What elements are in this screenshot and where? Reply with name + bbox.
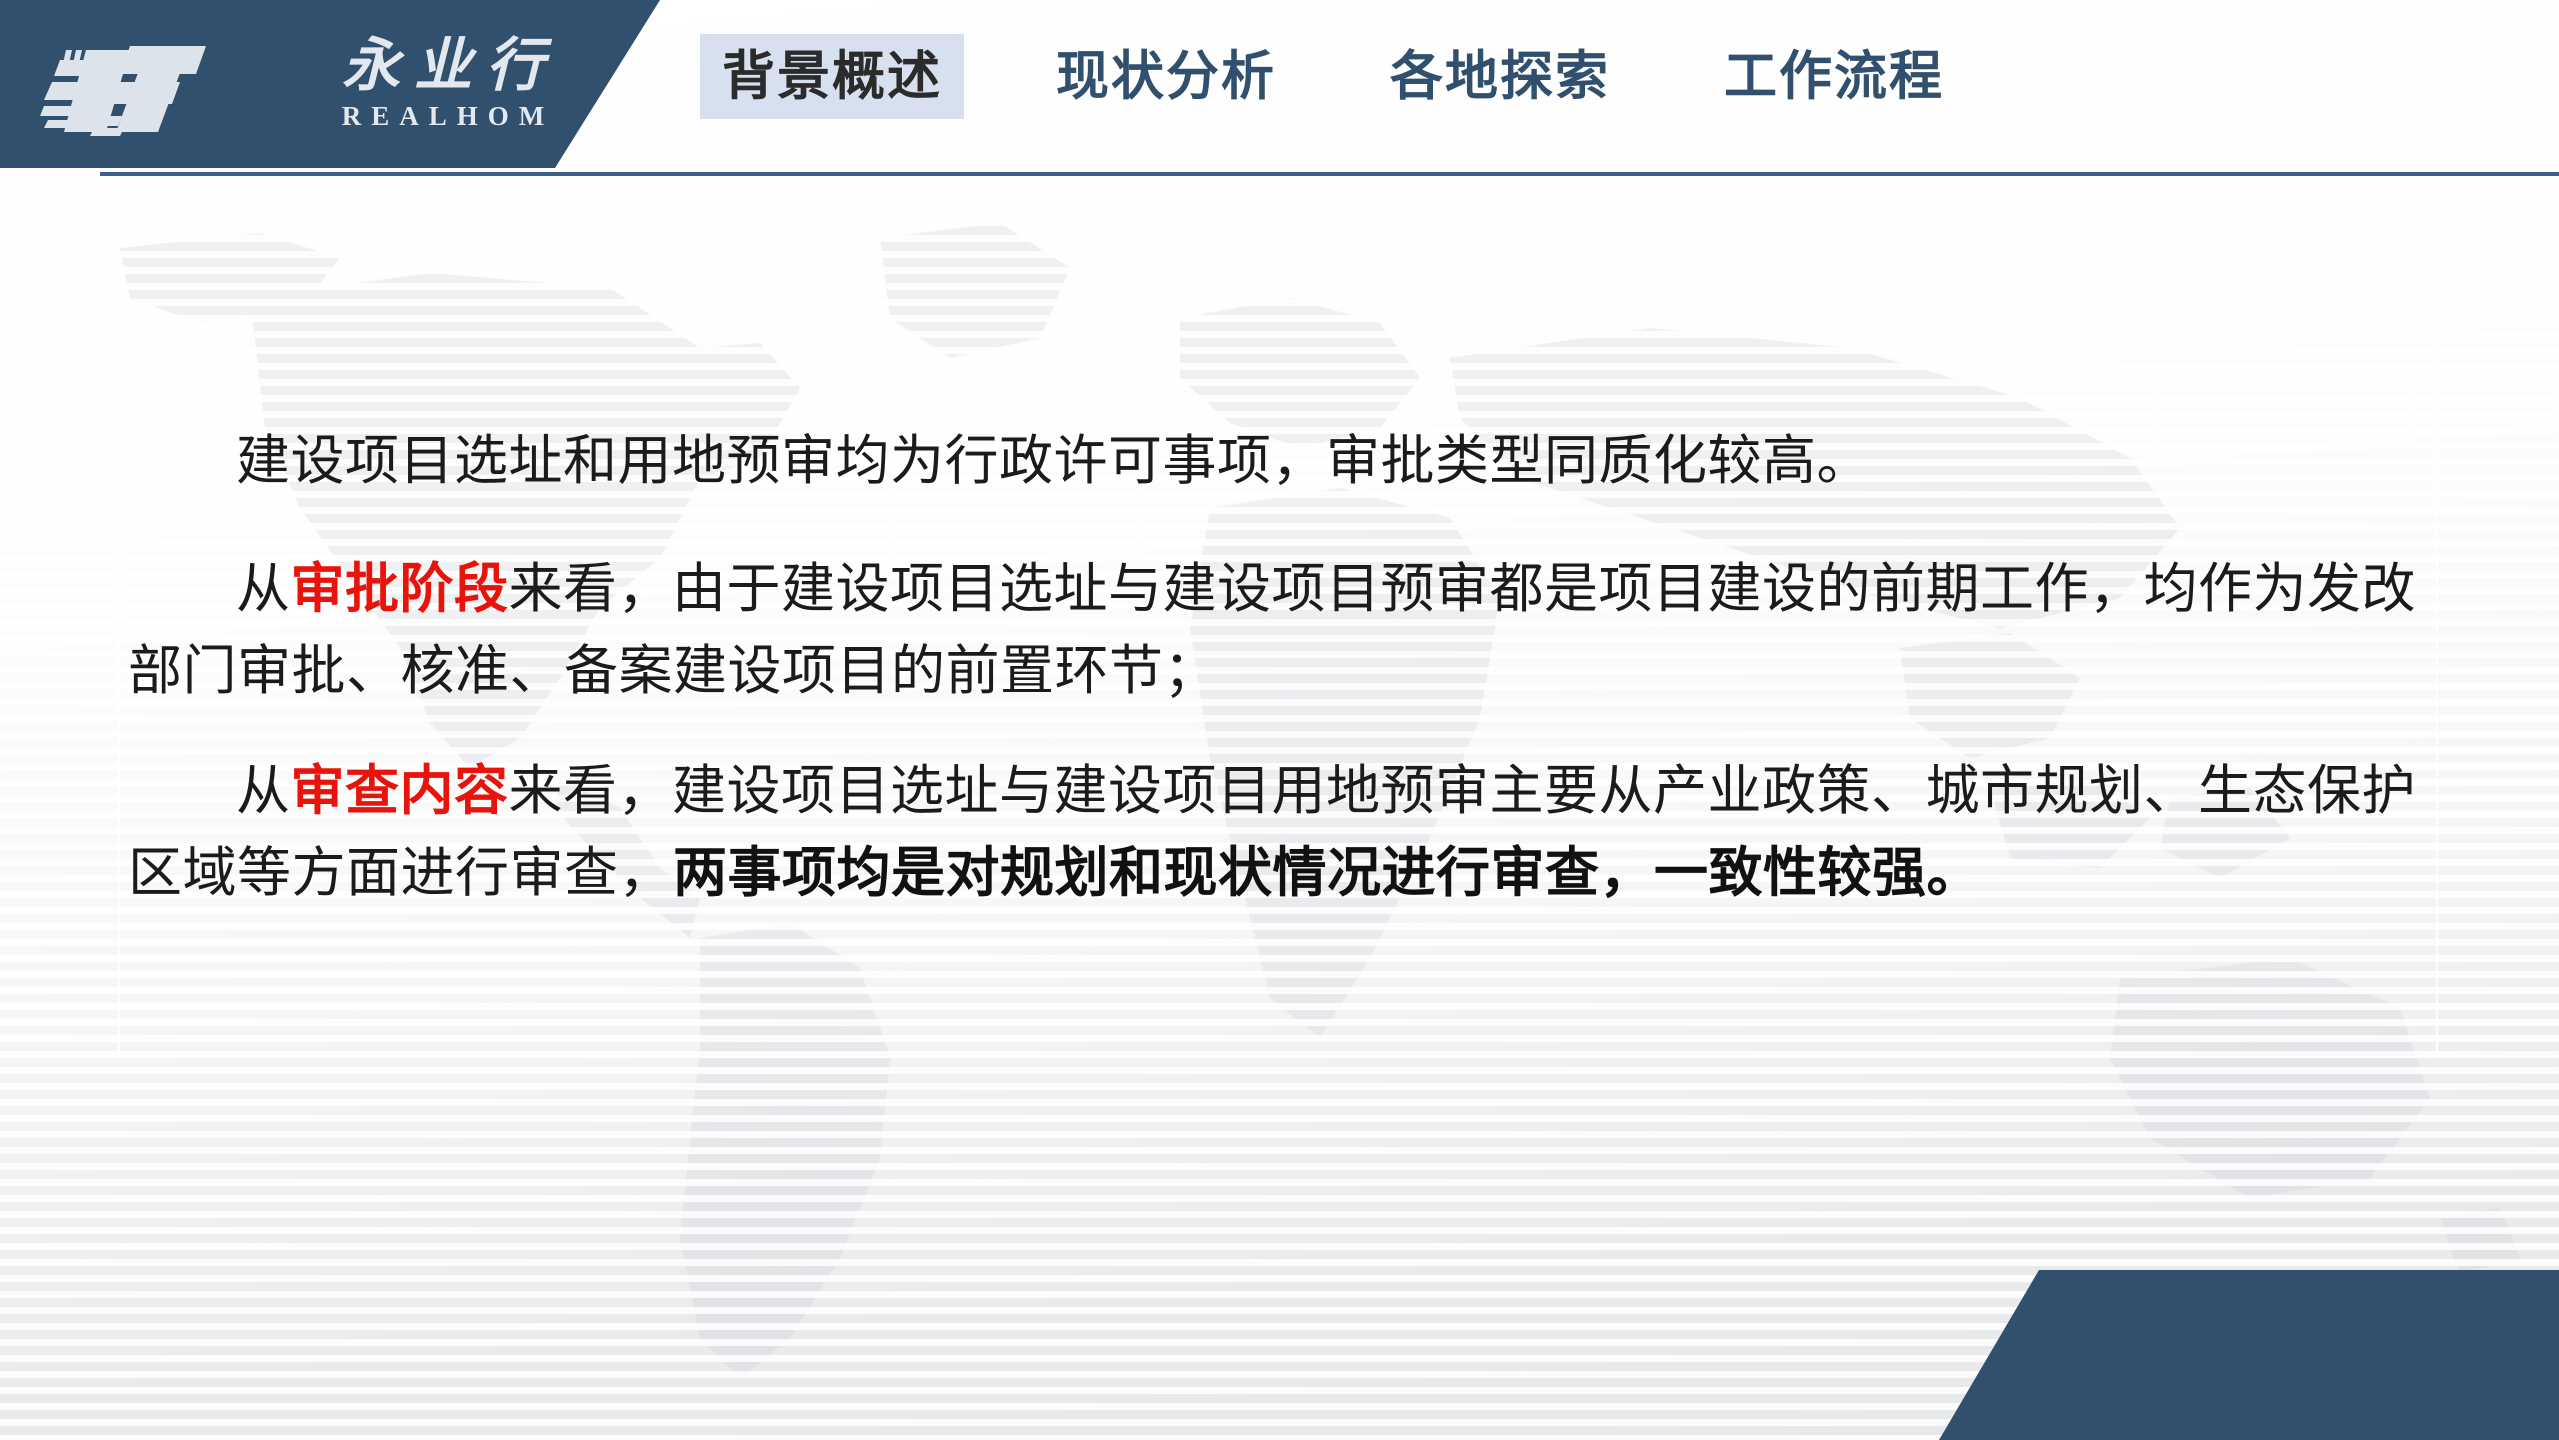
brand-logo[interactable]: 永业行 REALHOM (0, 0, 600, 168)
paragraph-1-text: 建设项目选址和用地预审均为行政许可事项，审批类型同质化较高。 (236, 431, 1871, 491)
tab-work-process[interactable]: 工作流程 (1702, 34, 1966, 119)
paragraph-3: 从审查内容来看，建设项目选址与建设项目用地预审主要从产业政策、城市规划、生态保护… (128, 750, 2438, 914)
logo-chinese-name: 永业行 (328, 36, 558, 97)
paragraph-2-lead: 从 (236, 559, 291, 619)
tab-current-analysis[interactable]: 现状分析 (1034, 34, 1298, 119)
paragraph-2-highlight: 审批阶段 (291, 559, 509, 619)
header-divider-line (100, 172, 2559, 176)
header-bar: 永业行 REALHOM 背景概述 现状分析 各地探索 工作流程 (0, 0, 2559, 178)
tab-background-overview[interactable]: 背景概述 (700, 34, 964, 119)
bottom-right-accent-shape (1939, 1270, 2559, 1440)
paragraph-3-bold-tail: 两事项均是对规划和现状情况进行审查，一致性较强。 (673, 843, 1981, 903)
paragraph-3-lead: 从 (236, 761, 291, 821)
paragraph-3-highlight: 审查内容 (291, 761, 509, 821)
slide-root: 永业行 REALHOM 背景概述 现状分析 各地探索 工作流程 建设项目选址和用… (0, 0, 2559, 1440)
logo-english-name: REALHOM (332, 101, 555, 132)
paragraph-1: 建设项目选址和用地预审均为行政许可事项，审批类型同质化较高。 (128, 420, 2438, 502)
main-navigation: 背景概述 现状分析 各地探索 工作流程 (700, 16, 1966, 136)
realhom-yh-monogram-icon (30, 24, 320, 144)
paragraph-2: 从审批阶段来看，由于建设项目选址与建设项目预审都是项目建设的前期工作，均作为发改… (128, 548, 2438, 712)
tab-regional-exploration[interactable]: 各地探索 (1368, 34, 1632, 119)
body-text-block: 建设项目选址和用地预审均为行政许可事项，审批类型同质化较高。 从审批阶段来看，由… (128, 420, 2438, 914)
